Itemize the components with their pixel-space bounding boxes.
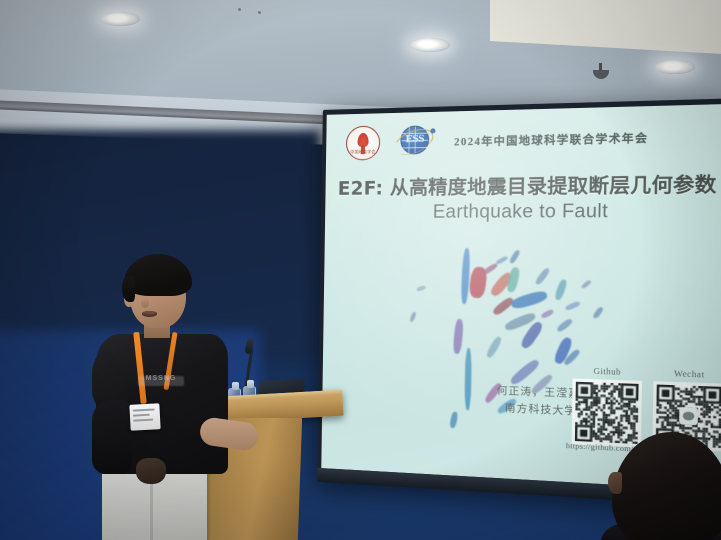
presentation-slide: 中国地震学会 ESS 2024年中国地球科学联合学术年会 <box>321 104 721 476</box>
wechat-logo-icon <box>679 407 698 425</box>
fault-segment <box>506 266 521 293</box>
presenter-nose <box>141 298 149 308</box>
fault-segment <box>534 267 551 286</box>
github-qr-block[interactable]: Github <box>572 366 643 448</box>
fault-segment <box>510 289 549 311</box>
presenter-hand <box>136 458 166 484</box>
fault-segment <box>453 319 464 355</box>
name-badge <box>129 403 160 431</box>
wechat-qr-label: Wechat <box>653 368 721 380</box>
presenter-left-arm <box>92 400 132 474</box>
ceiling-dot <box>258 11 261 14</box>
fault-segment <box>495 255 508 265</box>
conference-photo-scene: 中国地震学会 ESS 2024年中国地球科学联合学术年会 <box>0 0 721 540</box>
fault-segment <box>581 279 592 289</box>
slide-header: 中国地震学会 ESS 2024年中国地球科学联合学术年会 <box>338 115 718 169</box>
audience-member-ear <box>608 472 622 494</box>
presenter-mouth <box>142 311 157 317</box>
fault-segment <box>509 249 521 264</box>
fault-segment <box>554 279 568 301</box>
orbit-satellite-icon <box>430 128 435 133</box>
slide-title-english: Earthquake to Fault <box>337 199 717 222</box>
fault-segment <box>592 306 604 319</box>
github-qr-label: Github <box>573 366 643 378</box>
ceiling-downlight-icon <box>100 12 140 26</box>
author-names: 何正涛，王滢嘉 <box>497 385 581 400</box>
fault-segment <box>556 318 574 334</box>
ceiling-downlight-icon <box>655 60 695 74</box>
slide-title-chinese: E2F: 从高精度地震目录提取断层几何参数 <box>337 170 717 201</box>
ceiling-dot <box>238 8 241 11</box>
fault-segment <box>565 300 581 311</box>
fault-segment <box>485 335 503 359</box>
fault-segment <box>409 311 416 322</box>
fault-segment <box>416 285 426 292</box>
presenter-hair-side <box>122 276 135 302</box>
presenter: MSSNG <box>92 252 272 540</box>
tshirt-print-text: MSSNG <box>138 375 184 382</box>
fault-segment <box>540 309 554 320</box>
github-qr-code[interactable] <box>572 378 642 447</box>
fault-segment <box>460 248 470 304</box>
ceiling-downlight-icon <box>410 38 450 52</box>
